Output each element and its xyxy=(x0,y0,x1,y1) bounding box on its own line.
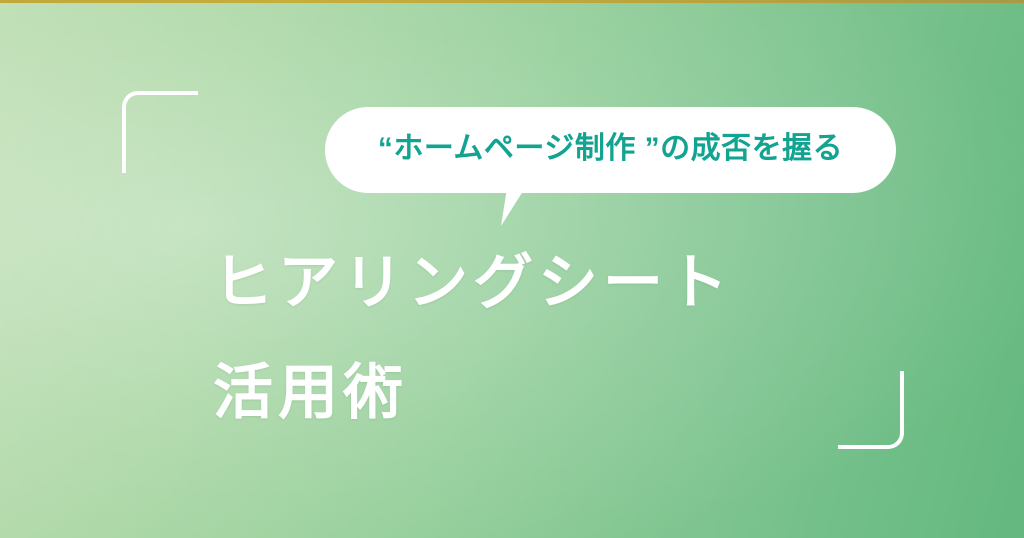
corner-bracket-top-left-icon xyxy=(122,91,198,173)
banner: “ホームページ制作 ”の成否を握る ヒアリングシート 活用術 xyxy=(0,0,1024,538)
speech-bubble-tail-icon xyxy=(485,188,525,226)
page-title-line-2: 活用術 xyxy=(213,338,913,448)
top-accent-strip xyxy=(0,0,1024,3)
speech-bubble-text: “ホームページ制作 ”の成否を握る xyxy=(378,134,843,166)
page-title-line-1: ヒアリングシート xyxy=(213,228,913,338)
page-title: ヒアリングシート 活用術 xyxy=(213,228,913,448)
speech-bubble: “ホームページ制作 ”の成否を握る xyxy=(325,107,896,193)
